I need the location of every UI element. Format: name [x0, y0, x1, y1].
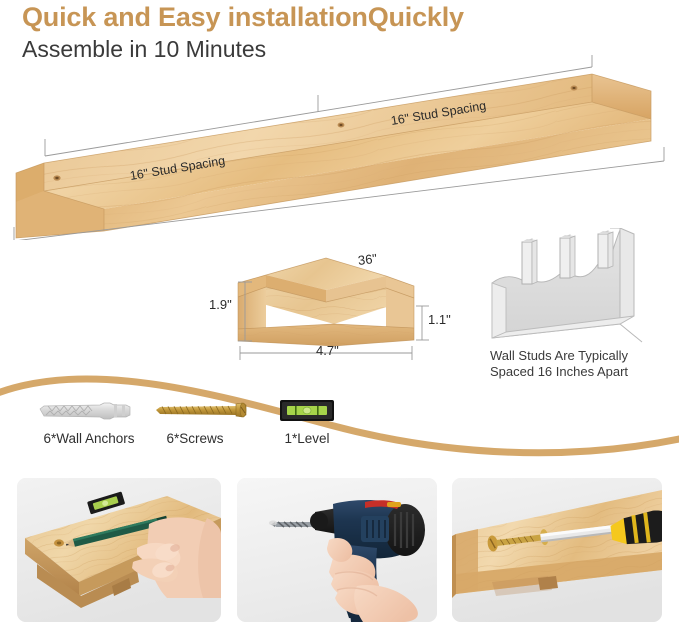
hardware-label-wall-anchors: 6*Wall Anchors — [24, 431, 154, 446]
label-lip-height: 1.1" — [428, 312, 451, 327]
wall-anchor-icon — [24, 398, 154, 424]
photo-mark-with-pencil-image — [17, 478, 221, 622]
label-depth: 4.7" — [316, 343, 339, 358]
wall-studs-diagram — [470, 228, 670, 368]
shelf-illustration — [0, 55, 679, 240]
wall-studs-caption-line1: Wall Studs Are Typically — [490, 348, 670, 364]
photo-drive-screw-image — [452, 478, 662, 622]
cross-section-diagram: 1.9" 1.1" 4.7" — [200, 250, 450, 365]
hardware-item-screws: 6*Screws — [150, 398, 240, 446]
hardware-list: 6*Wall Anchors — [0, 398, 400, 458]
photo-drill-wall — [237, 478, 437, 622]
photo-drive-screw — [452, 478, 662, 622]
wall-studs-icon — [470, 228, 670, 368]
hardware-label-screws: 6*Screws — [150, 431, 240, 446]
page-title: Quick and Easy installationQuickly — [22, 2, 464, 33]
infographic-root: Quick and Easy installationQuickly Assem… — [0, 0, 679, 626]
label-height: 1.9" — [209, 297, 232, 312]
hardware-item-level: 1*Level — [262, 398, 352, 446]
hardware-label-level: 1*Level — [262, 431, 352, 446]
photo-drill-wall-image — [237, 478, 437, 622]
screw-icon — [150, 398, 260, 424]
installation-photo-strip — [0, 478, 679, 622]
level-icon — [262, 398, 352, 424]
hardware-item-wall-anchors: 6*Wall Anchors — [24, 398, 154, 446]
photo-mark-with-pencil — [17, 478, 221, 622]
hero-shelf-diagram: 16" Stud Spacing 16" Stud Spacing 36" — [0, 55, 679, 240]
